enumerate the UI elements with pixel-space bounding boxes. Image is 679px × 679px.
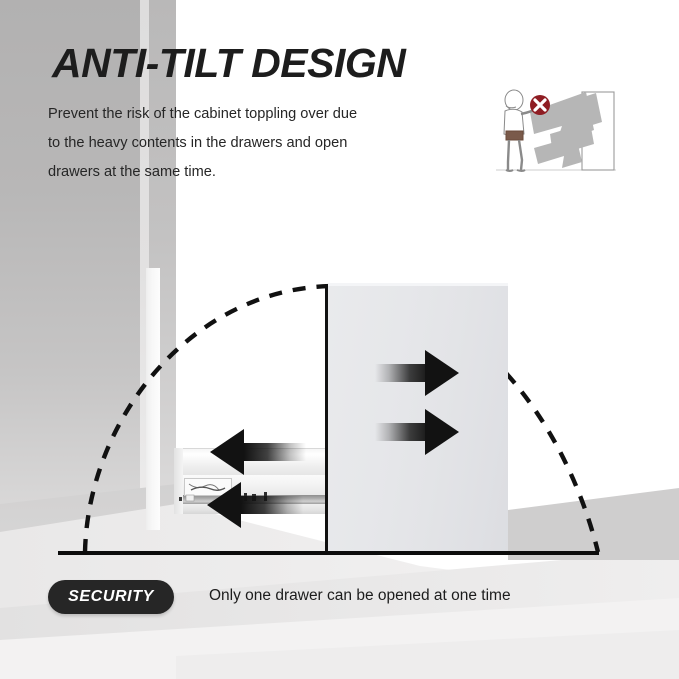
status-badge: SECURITY: [48, 580, 174, 614]
cabinet-tipping-illustration: [490, 78, 620, 183]
description-line-3: drawers at the same time.: [48, 158, 448, 187]
cabinet-top-edge: [328, 283, 508, 286]
description-line-2: to the heavy contents in the drawers and…: [48, 129, 448, 158]
cabinet-pivot-line: [325, 284, 328, 554]
arrow-left-lower: [207, 482, 303, 528]
floor-baseline: [58, 551, 599, 555]
poster-canvas: ANTI-TILT DESIGN Prevent the risk of the…: [0, 0, 679, 679]
page-description: Prevent the risk of the cabinet toppling…: [48, 100, 448, 187]
description-line-1: Prevent the risk of the cabinet toppling…: [48, 100, 448, 129]
footer-caption: Only one drawer can be opened at one tim…: [209, 587, 511, 605]
arrow-left-upper: [210, 429, 306, 475]
x-circle-warning-icon: [530, 95, 550, 115]
arrow-right-upper: [375, 350, 459, 396]
page-title: ANTI-TILT DESIGN: [52, 40, 405, 87]
arrow-right-lower: [375, 409, 459, 455]
